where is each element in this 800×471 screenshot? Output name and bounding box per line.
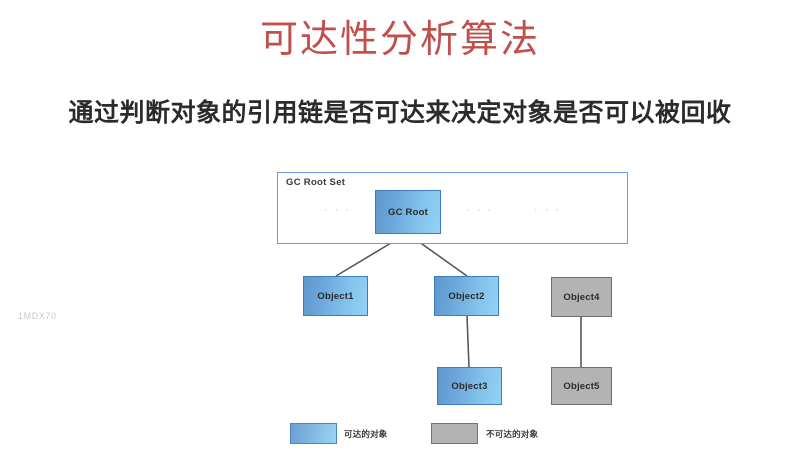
node-gc-root[interactable]: GC Root: [375, 190, 441, 234]
ellipsis-marker-2: · · ·: [466, 205, 493, 216]
legend-label-unreachable: 不可达的对象: [486, 428, 538, 440]
node-object4[interactable]: Object4: [551, 277, 612, 317]
edge-object2-object3: [467, 316, 469, 367]
reachability-diagram: GC Root Set · · · · · · · · · GC Root Ob…: [0, 0, 800, 471]
ellipsis-marker-3: · · ·: [534, 205, 561, 216]
node-object5[interactable]: Object5: [551, 367, 612, 405]
legend-swatch-reachable: [290, 423, 337, 444]
node-object2[interactable]: Object2: [434, 276, 499, 316]
legend-swatch-unreachable: [431, 423, 478, 444]
legend-label-reachable: 可达的对象: [344, 428, 388, 440]
gc-root-set-label: GC Root Set: [286, 177, 345, 188]
node-object3[interactable]: Object3: [437, 367, 502, 405]
node-object1[interactable]: Object1: [303, 276, 368, 316]
ellipsis-marker-1: · · ·: [324, 205, 351, 216]
